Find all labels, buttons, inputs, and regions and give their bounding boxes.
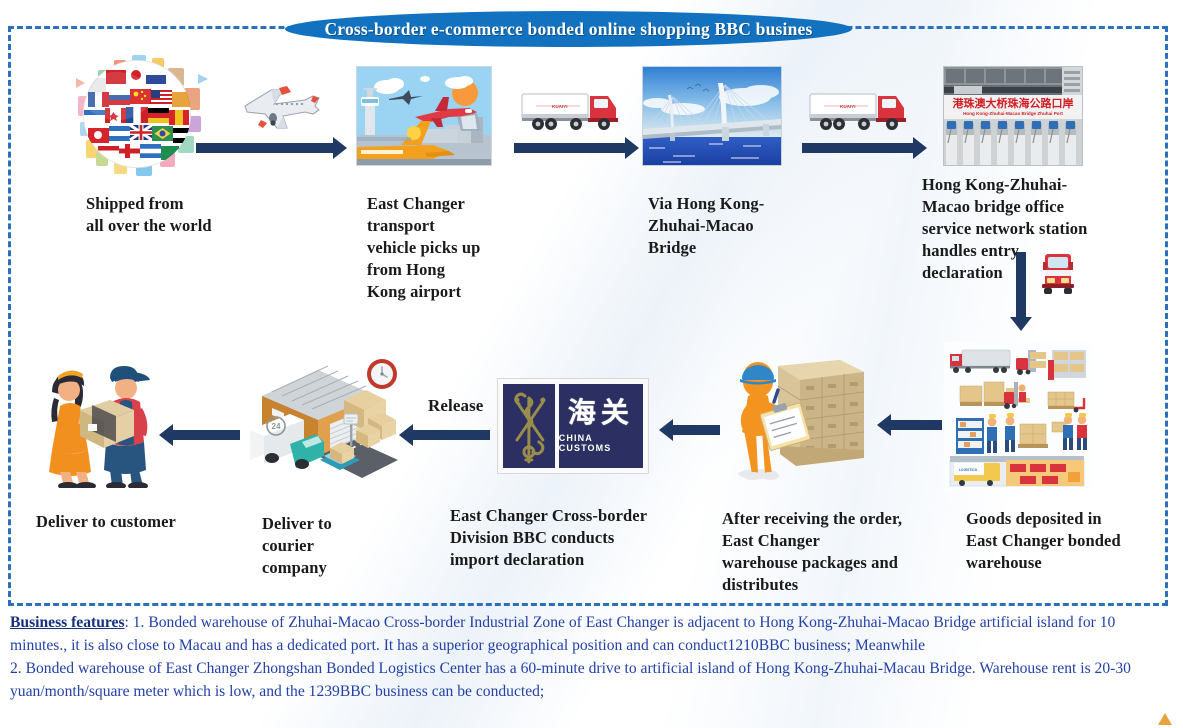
caption-customs-declaration: East Changer Cross-border Division BBC c… bbox=[450, 505, 700, 571]
caption-port-station: Hong Kong-Zhuhai- Macao bridge office se… bbox=[922, 174, 1118, 284]
caption-text: Via Hong Kong- Zhuhai-Macao Bridge bbox=[648, 194, 764, 257]
arrow-customs-to-courier bbox=[412, 430, 490, 440]
node-packaging bbox=[722, 342, 872, 482]
orange-corner-marker-icon bbox=[1157, 712, 1173, 726]
page-title: Cross-border e-commerce bonded online sh… bbox=[324, 19, 812, 40]
node-world-shipment bbox=[62, 52, 212, 180]
caption-bridge: Via Hong Kong- Zhuhai-Macao Bridge bbox=[648, 193, 818, 259]
svg-text:Hong Kong-Zhuhai-Macao Bridge: Hong Kong-Zhuhai-Macao Bridge Zhuhai Por… bbox=[963, 111, 1063, 116]
caption-packaging: After receiving the order, East Changer … bbox=[722, 508, 942, 596]
truck-svg: KUAIYI bbox=[806, 88, 910, 134]
customs-english-label: CHINA CUSTOMS bbox=[559, 433, 643, 453]
svg-text:KUAIYI: KUAIYI bbox=[840, 104, 856, 109]
caption-text: After receiving the order, East Changer … bbox=[722, 509, 902, 594]
svg-text:24: 24 bbox=[272, 422, 281, 431]
label-release: Release bbox=[428, 395, 518, 418]
delivery-people-svg bbox=[36, 356, 164, 488]
customs-text-panel: 海关 CHINA CUSTOMS bbox=[559, 384, 643, 468]
bridge-svg bbox=[643, 67, 781, 165]
node-courier-company: 24 bbox=[246, 356, 396, 481]
node-customs-declaration: 海关 CHINA CUSTOMS bbox=[497, 378, 649, 474]
release-text: Release bbox=[428, 396, 483, 415]
caption-text: Hong Kong-Zhuhai- Macao bridge office se… bbox=[922, 175, 1087, 282]
arrow-world-to-airport bbox=[196, 143, 334, 153]
worker-pallet-svg bbox=[722, 342, 872, 482]
caption-bonded-warehouse: Goods deposited in East Changer bonded w… bbox=[966, 508, 1146, 574]
caption-world-shipment: Shipped from all over the world bbox=[86, 193, 246, 237]
globe-of-flags-svg bbox=[62, 52, 212, 180]
caption-text: East Changer Cross-border Division BBC c… bbox=[450, 506, 647, 569]
airplane-icon bbox=[233, 76, 329, 143]
node-port-station: 港珠澳大桥珠海公路口岸 Hong Kong-Zhuhai-Macao Bridg… bbox=[943, 66, 1083, 166]
customs-chinese-label: 海关 bbox=[568, 399, 634, 427]
business-features-notes: Business features: 1. Bonded warehouse o… bbox=[10, 612, 1170, 704]
notes-line-1: : 1. Bonded warehouse of Zhuhai-Macao Cr… bbox=[10, 614, 1115, 654]
notes-paragraph-1: Business features: 1. Bonded warehouse o… bbox=[10, 612, 1170, 658]
caption-courier-company: Deliver to courier company bbox=[262, 513, 402, 579]
isometric-warehouse-truck-icon: 24 bbox=[246, 356, 396, 481]
truck-icon-1: KUAIYI bbox=[518, 88, 622, 139]
node-airport bbox=[356, 66, 492, 166]
truck-svg: KUAIYI bbox=[518, 88, 622, 134]
notes-paragraph-2: 2. Bonded warehouse of East Changer Zhon… bbox=[10, 658, 1170, 704]
caption-deliver-customer: Deliver to customer bbox=[36, 511, 236, 533]
airport-airplanes-icon bbox=[356, 66, 492, 166]
svg-text:KUAIYI: KUAIYI bbox=[552, 104, 568, 109]
caption-text: Deliver to courier company bbox=[262, 514, 332, 577]
arrow-airport-to-bridge bbox=[514, 143, 626, 153]
node-deliver-customer bbox=[36, 356, 164, 488]
node-bridge bbox=[642, 66, 782, 166]
arrow-courier-to-customer bbox=[172, 430, 240, 440]
diagram-title-banner: Cross-border e-commerce bonded online sh… bbox=[285, 11, 852, 47]
notes-heading: Business features bbox=[10, 614, 125, 631]
cable-stayed-bridge-icon bbox=[642, 66, 782, 166]
china-customs-sign-icon: 海关 CHINA CUSTOMS bbox=[497, 378, 649, 474]
courier-handing-parcel-icon bbox=[36, 356, 164, 488]
svg-text:港珠澳大桥珠海公路口岸: 港珠澳大桥珠海公路口岸 bbox=[953, 96, 1074, 110]
globe-of-flags-icon bbox=[62, 52, 212, 180]
arrow-packing-to-customs bbox=[672, 425, 720, 435]
customs-sign-inner: 海关 CHINA CUSTOMS bbox=[503, 384, 643, 468]
collage-svg: LOGISTICS bbox=[944, 342, 1090, 488]
airplane-svg bbox=[233, 76, 329, 138]
port-svg: 港珠澳大桥珠海公路口岸 Hong Kong-Zhuhai-Macao Bridg… bbox=[944, 67, 1082, 165]
truck-icon-2: KUAIYI bbox=[806, 88, 910, 139]
caption-airport: East Changer transport vehicle picks up … bbox=[367, 193, 537, 303]
zhuhai-port-building-icon: 港珠澳大桥珠海公路口岸 Hong Kong-Zhuhai-Macao Bridg… bbox=[943, 66, 1083, 166]
logistics-warehouse-collage-icon: LOGISTICS bbox=[944, 342, 1092, 490]
notes-line-2: 2. Bonded warehouse of East Changer Zhon… bbox=[10, 660, 1131, 700]
node-bonded-warehouse: LOGISTICS bbox=[944, 342, 1092, 490]
arrow-bridge-to-port bbox=[802, 143, 914, 153]
warehouse-worker-pallet-icon bbox=[722, 342, 872, 482]
caption-text: Deliver to customer bbox=[36, 512, 176, 531]
caption-text: Shipped from all over the world bbox=[86, 194, 212, 235]
airport-svg bbox=[357, 67, 491, 165]
caption-text: East Changer transport vehicle picks up … bbox=[367, 194, 480, 301]
caption-text: Goods deposited in East Changer bonded w… bbox=[966, 509, 1121, 572]
arrow-bonded-to-packing bbox=[890, 420, 942, 430]
warehouse-iso-svg: 24 bbox=[246, 356, 398, 484]
svg-text:LOGISTICS: LOGISTICS bbox=[959, 468, 978, 472]
